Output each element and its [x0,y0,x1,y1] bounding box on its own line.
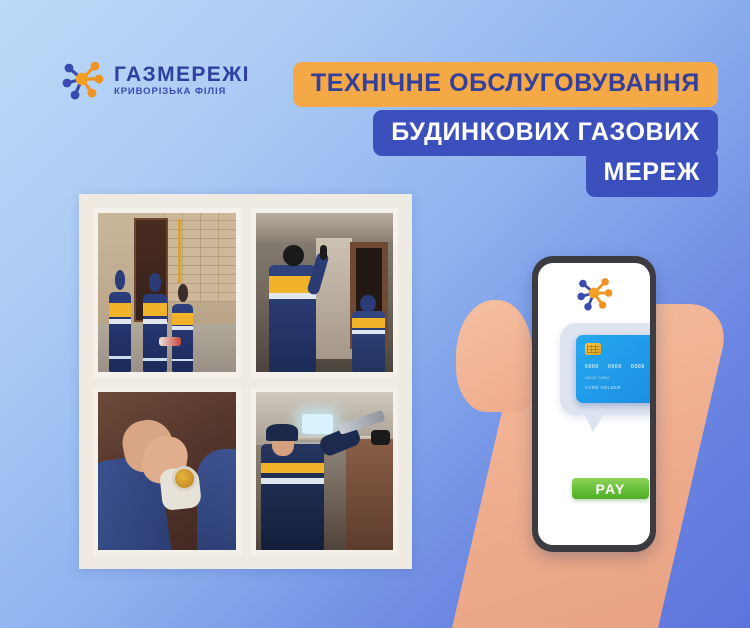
card-chip-icon [585,343,601,355]
card-number-group-3: 0000 [631,364,645,370]
title-line-2: БУДИНКОВИХ ГАЗОВИХ [373,110,718,156]
collage-photo-3 [93,387,241,556]
photo-collage [79,194,412,569]
collage-photo-4 [251,387,399,556]
collage-photo-2 [251,208,399,377]
phone-screen: 0000 0000 0000 0000 VALID THRU 00/00 CAR… [538,263,650,545]
smartphone: 0000 0000 0000 0000 VALID THRU 00/00 CAR… [532,256,656,552]
gas-network-node-logo-icon [575,275,613,311]
card-number-group-1: 0000 [585,364,599,370]
brand-name: ГАЗМЕРЕЖІ [114,64,250,85]
title-line-1: ТЕХНІЧНЕ ОБСЛУГОВУВАННЯ [293,62,718,107]
pay-button[interactable]: PAY [572,478,649,499]
hand-holding-phone-illustration: 0000 0000 0000 0000 VALID THRU 00/00 CAR… [428,256,750,628]
thumb-shape [456,300,532,412]
card-expiry-row: VALID THRU 00/00 [585,376,650,381]
brand-logo: ГАЗМЕРЕЖІ КРИВОРІЗЬКА ФІЛІЯ [60,58,250,100]
card-expiry-label: VALID THRU [585,376,609,381]
speech-bubble-tail-icon [584,413,604,432]
title-line-3: МЕРЕЖ [586,150,718,197]
card-holder-name: CARD HOLDER [585,385,650,390]
pay-button-label: PAY [595,481,625,497]
credit-card: 0000 0000 0000 0000 VALID THRU 00/00 CAR… [576,335,650,403]
gas-network-node-logo-icon [60,58,104,100]
brand-subtitle: КРИВОРІЗЬКА ФІЛІЯ [114,87,250,97]
brand-text-block: ГАЗМЕРЕЖІ КРИВОРІЗЬКА ФІЛІЯ [114,62,250,97]
collage-photo-1 [93,208,241,377]
card-number-group-2: 0000 [608,364,622,370]
card-number: 0000 0000 0000 0000 [585,364,650,370]
title-banner: ТЕХНІЧНЕ ОБСЛУГОВУВАННЯ БУДИНКОВИХ ГАЗОВ… [293,62,718,197]
